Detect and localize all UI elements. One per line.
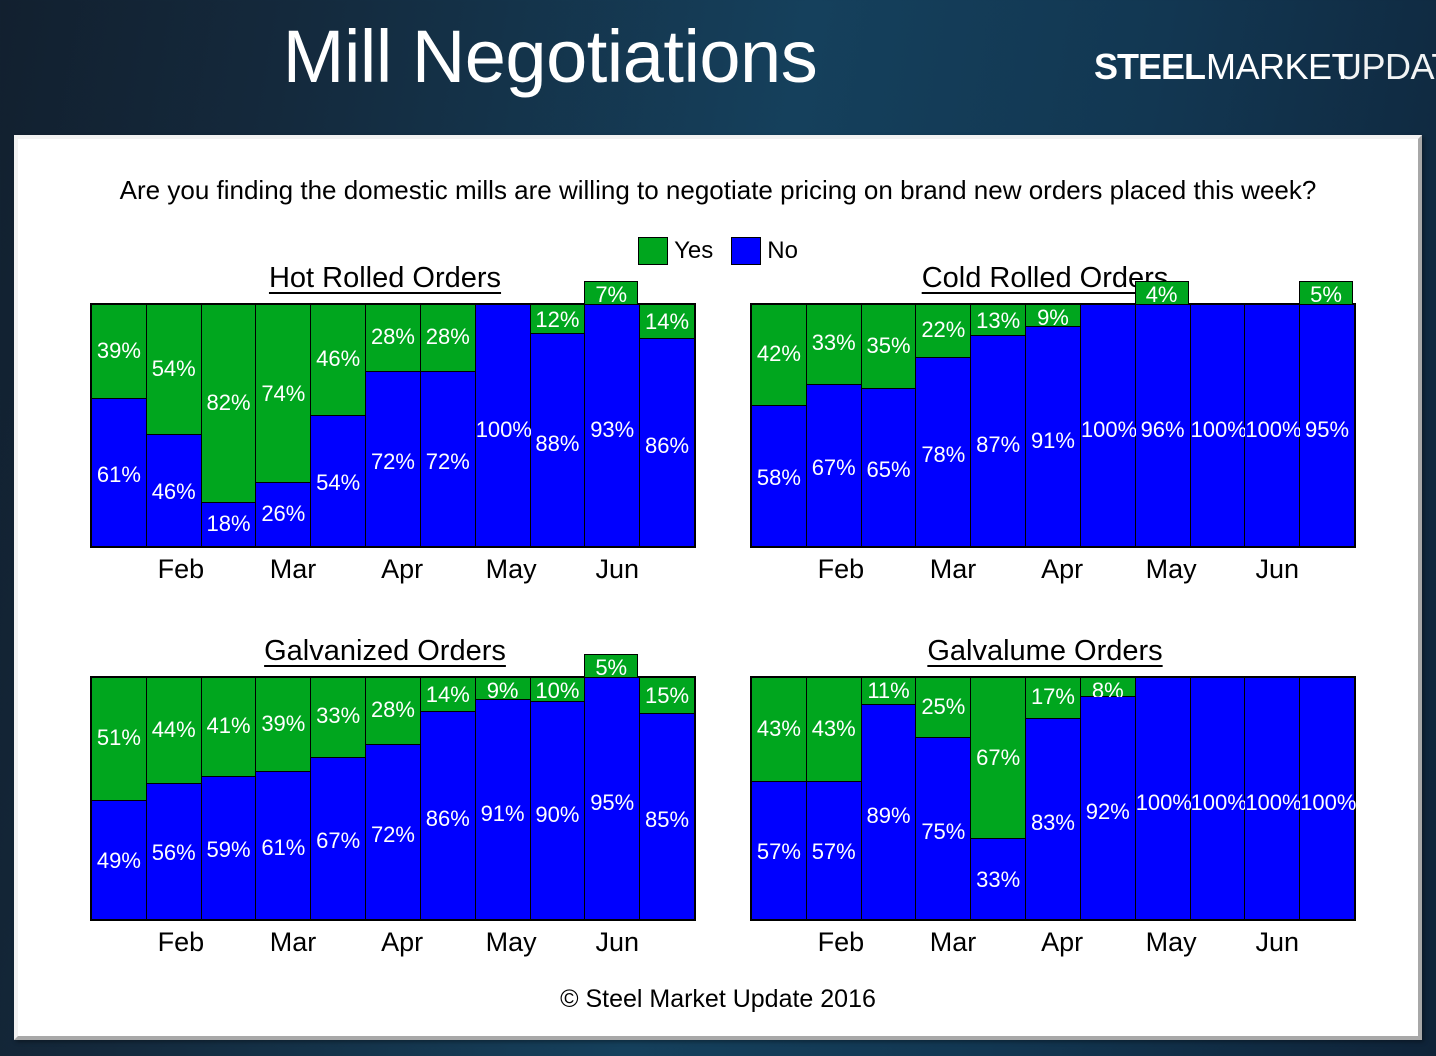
- bar-column: 11%89%: [862, 678, 917, 919]
- bar-segment-no: 93%: [585, 305, 639, 546]
- x-axis-tick-label: Feb: [818, 927, 865, 958]
- x-axis-labels: FebMarAprMayJun: [90, 927, 696, 967]
- bar-column: 28%72%: [366, 678, 421, 919]
- bar-column: 100%: [1300, 678, 1354, 919]
- bar-column: 8%92%: [1081, 678, 1136, 919]
- bar-column: 100%: [1191, 678, 1246, 919]
- bar-value-label-yes: 14%: [421, 682, 475, 708]
- bar-column: 22%78%: [916, 305, 971, 546]
- x-axis-tick-label: Mar: [270, 927, 317, 958]
- x-axis-tick-label: Feb: [158, 927, 205, 958]
- bar-value-label-no: 95%: [1300, 417, 1354, 443]
- bar-value-label-yes: 28%: [366, 697, 420, 723]
- bar-column: 100%: [1136, 678, 1191, 919]
- bar-value-label-no: 88%: [531, 431, 585, 457]
- bar-value-label-yes: 46%: [311, 346, 365, 372]
- bar-value-label-no: 18%: [202, 511, 256, 537]
- x-axis-tick-label: Feb: [158, 554, 205, 585]
- bar-segment-no: 56%: [147, 784, 201, 919]
- bar-value-label-yes: 39%: [256, 711, 310, 737]
- bar-segment-no: 100%: [1081, 305, 1135, 546]
- plot-area: 43%57%43%57%11%89%25%75%67%33%17%83%8%92…: [750, 676, 1356, 921]
- bar-value-label-no: 86%: [640, 433, 694, 459]
- chart-cold-rolled-orders: Cold Rolled Orders 42%58%33%67%35%65%22%…: [734, 262, 1356, 567]
- bar-value-label-no: 100%: [1245, 790, 1299, 816]
- bar-column: 43%57%: [807, 678, 862, 919]
- bar-column: 33%67%: [311, 678, 366, 919]
- bar-column: 51%49%: [92, 678, 147, 919]
- bar-column: 100%: [1191, 305, 1246, 546]
- bar-segment-no: 26%: [256, 483, 310, 546]
- bar-column: 100%: [1245, 305, 1300, 546]
- bar-segment-yes: 14%: [421, 678, 475, 712]
- bar-value-label-yes: 43%: [807, 716, 861, 742]
- bar-segment-no: 67%: [807, 385, 861, 546]
- x-axis-tick-label: Apr: [1041, 554, 1083, 585]
- bar-segment-yes: 22%: [916, 305, 970, 358]
- chart-galvanized-orders: Galvanized Orders 51%49%44%56%41%59%39%6…: [74, 635, 696, 940]
- bar-value-label-no: 65%: [862, 457, 916, 483]
- bar-value-label-yes: 17%: [1026, 684, 1080, 710]
- bar-segment-no: 65%: [862, 389, 916, 546]
- bar-value-label-no: 100%: [1245, 417, 1299, 443]
- bar-value-label-yes: 10%: [531, 678, 585, 704]
- content-panel: Are you finding the domestic mills are w…: [14, 135, 1422, 1040]
- bar-segment-yes: 74%: [256, 305, 310, 483]
- bar-value-label-yes: 14%: [640, 309, 694, 335]
- x-axis-tick-label: May: [486, 927, 537, 958]
- bar-column: 13%87%: [971, 305, 1026, 546]
- bar-value-label-no: 67%: [807, 455, 861, 481]
- bar-segment-no: 61%: [256, 772, 310, 919]
- bar-value-label-no: 57%: [807, 839, 861, 865]
- bar-segment-yes: 17%: [1026, 678, 1080, 719]
- bar-segment-no: 57%: [752, 782, 806, 919]
- chart-hot-rolled-orders: Hot Rolled Orders 39%61%54%46%82%18%74%2…: [74, 262, 696, 567]
- bar-value-label-no: 100%: [476, 417, 530, 443]
- bar-column: 7%93%: [585, 305, 640, 546]
- legend-swatch-yes: [638, 237, 668, 265]
- plot-area: 51%49%44%56%41%59%39%61%33%67%28%72%14%8…: [90, 676, 696, 921]
- bar-segment-no: 100%: [1245, 678, 1299, 919]
- x-axis-labels: FebMarAprMayJun: [750, 554, 1356, 594]
- legend-item-yes: Yes: [638, 237, 713, 265]
- bar-segment-yes: 33%: [807, 305, 861, 385]
- bar-segment-no: 75%: [916, 738, 970, 919]
- bar-segment-yes: 46%: [311, 305, 365, 416]
- bar-value-label-no: 72%: [366, 449, 420, 475]
- bar-segment-no: 18%: [202, 503, 256, 546]
- bar-value-label-yes: 13%: [971, 308, 1025, 334]
- steel-market-update-logo: STEEL MARKET UPDATE: [1088, 12, 1432, 122]
- x-axis-labels: FebMarAprMayJun: [90, 554, 696, 594]
- bar-value-label-no: 58%: [752, 465, 806, 491]
- logo-word-update: UPDATE: [1336, 46, 1436, 88]
- bar-column: 100%: [476, 305, 531, 546]
- bar-value-label-yes: 41%: [202, 713, 256, 739]
- bar-column: 39%61%: [92, 305, 147, 546]
- bar-value-label-yes: 33%: [807, 330, 861, 356]
- bar-segment-no: 96%: [1136, 305, 1190, 546]
- bar-segment-no: 90%: [531, 702, 585, 919]
- bar-value-label-no: 87%: [971, 432, 1025, 458]
- bar-segment-yes: 4%: [1135, 281, 1189, 305]
- bar-column: 9%91%: [1026, 305, 1081, 546]
- x-axis-tick-label: Mar: [270, 554, 317, 585]
- bar-column: 33%67%: [807, 305, 862, 546]
- bar-value-label-no: 83%: [1026, 810, 1080, 836]
- bar-value-label-yes: 33%: [311, 703, 365, 729]
- bar-segment-yes: 42%: [752, 305, 806, 406]
- bar-segment-no: 61%: [92, 399, 146, 546]
- legend-label-yes: Yes: [674, 237, 713, 265]
- bar-value-label-yes: 82%: [202, 390, 256, 416]
- bar-value-label-yes: 22%: [916, 317, 970, 343]
- bar-segment-no: 100%: [1245, 305, 1299, 546]
- bar-segment-yes: 8%: [1081, 678, 1135, 697]
- bar-column: 28%72%: [366, 305, 421, 546]
- plot-area: 42%58%33%67%35%65%22%78%13%87%9%91%100%4…: [750, 303, 1356, 548]
- chart-galvalume-orders: Galvalume Orders 43%57%43%57%11%89%25%75…: [734, 635, 1356, 940]
- legend-label-no: No: [767, 237, 798, 265]
- bar-column: 12%88%: [531, 305, 586, 546]
- bar-value-label-yes: 51%: [92, 725, 146, 751]
- bar-value-label-yes: 54%: [147, 356, 201, 382]
- bar-value-label-yes: 25%: [916, 694, 970, 720]
- bar-value-label-no: 56%: [147, 840, 201, 866]
- bar-segment-no: 49%: [92, 801, 146, 919]
- chart-title: Galvalume Orders: [734, 635, 1356, 668]
- bar-value-label-no: 26%: [256, 501, 310, 527]
- bar-segment-no: 72%: [366, 372, 420, 546]
- bar-segment-no: 67%: [311, 758, 365, 919]
- bar-segment-no: 83%: [1026, 719, 1080, 919]
- chart-title: Cold Rolled Orders: [734, 262, 1356, 295]
- bar-value-label-no: 57%: [752, 839, 806, 865]
- plot-area: 39%61%54%46%82%18%74%26%46%54%28%72%28%7…: [90, 303, 696, 548]
- bar-column: 9%91%: [476, 678, 531, 919]
- bar-value-label-yes: 43%: [752, 716, 806, 742]
- bar-segment-yes: 14%: [640, 305, 694, 339]
- bar-segment-yes: 12%: [531, 305, 585, 334]
- x-axis-labels: FebMarAprMayJun: [750, 927, 1356, 967]
- bar-segment-yes: 28%: [366, 305, 420, 372]
- bar-value-label-yes: 44%: [147, 717, 201, 743]
- bar-segment-yes: 25%: [916, 678, 970, 738]
- x-axis-tick-label: May: [486, 554, 537, 585]
- bar-segment-yes: 51%: [92, 678, 146, 801]
- bar-value-label-yes: 35%: [862, 333, 916, 359]
- x-axis-tick-label: May: [1146, 554, 1197, 585]
- x-axis-tick-label: Apr: [1041, 927, 1083, 958]
- bar-value-label-no: 61%: [92, 462, 146, 488]
- bar-value-label-no: 86%: [421, 806, 475, 832]
- bar-segment-yes: 13%: [971, 305, 1025, 336]
- bar-segment-no: 86%: [640, 339, 694, 546]
- bar-value-label-yes: 67%: [971, 745, 1025, 771]
- bar-value-label-yes: 28%: [366, 324, 420, 350]
- bar-column: 15%85%: [640, 678, 694, 919]
- bar-value-label-no: 100%: [1081, 417, 1135, 443]
- bar-value-label-no: 90%: [531, 802, 585, 828]
- x-axis-tick-label: Feb: [818, 554, 865, 585]
- bar-segment-no: 88%: [531, 334, 585, 546]
- bar-segment-yes: 5%: [1299, 281, 1353, 305]
- bar-value-label-yes: 42%: [752, 341, 806, 367]
- bar-segment-yes: 41%: [202, 678, 256, 777]
- bar-segment-no: 72%: [366, 745, 420, 919]
- bar-column: 100%: [1245, 678, 1300, 919]
- logo-word-market: MARKET: [1206, 46, 1353, 88]
- x-axis-tick-label: Jun: [1255, 554, 1299, 585]
- bar-segment-yes: 15%: [640, 678, 694, 714]
- bar-column: 100%: [1081, 305, 1136, 546]
- bar-column: 82%18%: [202, 305, 257, 546]
- bar-column: 54%46%: [147, 305, 202, 546]
- bar-segment-no: 78%: [916, 358, 970, 546]
- bar-column: 14%86%: [640, 305, 694, 546]
- bar-value-label-no: 49%: [92, 848, 146, 874]
- bar-column: 25%75%: [916, 678, 971, 919]
- bar-value-label-no: 59%: [202, 837, 256, 863]
- bar-column: 67%33%: [971, 678, 1026, 919]
- bar-segment-no: 91%: [1026, 327, 1080, 546]
- bar-segment-no: 100%: [476, 305, 530, 546]
- bar-column: 42%58%: [752, 305, 807, 546]
- bar-segment-yes: 33%: [311, 678, 365, 758]
- bar-segment-yes: 7%: [584, 281, 638, 305]
- bar-value-label-no: 72%: [421, 449, 475, 475]
- bar-segment-no: 59%: [202, 777, 256, 919]
- bar-segment-no: 91%: [476, 700, 530, 919]
- bar-segment-yes: 10%: [531, 678, 585, 702]
- logo-word-steel: STEEL: [1094, 46, 1205, 88]
- x-axis-tick-label: Jun: [595, 554, 639, 585]
- page-title: Mill Negotiations: [0, 14, 1100, 99]
- bar-segment-yes: 39%: [92, 305, 146, 399]
- bar-segment-yes: 43%: [752, 678, 806, 782]
- bar-segment-no: 92%: [1081, 697, 1135, 919]
- copyright-footer: © Steel Market Update 2016: [18, 985, 1418, 1014]
- bar-column: 46%54%: [311, 305, 366, 546]
- bar-segment-yes: 43%: [807, 678, 861, 782]
- bar-segment-yes: 54%: [147, 305, 201, 435]
- survey-question: Are you finding the domestic mills are w…: [18, 175, 1418, 206]
- bar-value-label-no: 91%: [1026, 428, 1080, 454]
- bar-column: 35%65%: [862, 305, 917, 546]
- bar-column: 74%26%: [256, 305, 311, 546]
- bar-column: 43%57%: [752, 678, 807, 919]
- bar-segment-no: 100%: [1300, 678, 1354, 919]
- bar-value-label-no: 89%: [862, 803, 916, 829]
- bar-column: 41%59%: [202, 678, 257, 919]
- bar-value-label-no: 100%: [1191, 790, 1245, 816]
- bar-value-label-yes: 15%: [640, 683, 694, 709]
- bar-segment-no: 54%: [311, 416, 365, 546]
- bar-value-label-no: 75%: [916, 819, 970, 845]
- x-axis-tick-label: Mar: [930, 554, 977, 585]
- bar-column: 4%96%: [1136, 305, 1191, 546]
- bar-value-label-no: 54%: [311, 470, 365, 496]
- slide-header: Mill Negotiations STEEL MARKET UPDATE: [0, 0, 1436, 135]
- bar-column: 14%86%: [421, 678, 476, 919]
- bar-value-label-no: 100%: [1300, 790, 1354, 816]
- legend-swatch-no: [731, 237, 761, 265]
- bar-value-label-no: 67%: [311, 828, 365, 854]
- bar-value-label-yes: 74%: [256, 381, 310, 407]
- bar-segment-no: 58%: [752, 406, 806, 546]
- x-axis-tick-label: May: [1146, 927, 1197, 958]
- bar-value-label-no: 85%: [640, 807, 694, 833]
- bar-segment-yes: 44%: [147, 678, 201, 784]
- bar-segment-no: 86%: [421, 712, 475, 919]
- bar-segment-no: 95%: [1300, 305, 1354, 546]
- bar-value-label-no: 91%: [476, 801, 530, 827]
- bar-column: 44%56%: [147, 678, 202, 919]
- bar-value-label-no: 33%: [971, 867, 1025, 893]
- bar-value-label-no: 61%: [256, 835, 310, 861]
- x-axis-tick-label: Apr: [381, 927, 423, 958]
- bar-value-label-no: 72%: [366, 822, 420, 848]
- x-axis-tick-label: Apr: [381, 554, 423, 585]
- bar-segment-no: 33%: [971, 839, 1025, 919]
- bar-value-label-yes: 39%: [92, 338, 146, 364]
- chart-legend: Yes No: [18, 237, 1418, 265]
- bar-segment-no: 95%: [585, 678, 639, 919]
- bar-segment-yes: 9%: [476, 678, 530, 700]
- bar-value-label-no: 100%: [1136, 790, 1190, 816]
- bar-segment-no: 100%: [1191, 305, 1245, 546]
- x-axis-tick-label: Jun: [1255, 927, 1299, 958]
- bar-segment-no: 87%: [971, 336, 1025, 546]
- bar-segment-yes: 35%: [862, 305, 916, 389]
- bar-segment-yes: 82%: [202, 305, 256, 503]
- bar-segment-yes: 67%: [971, 678, 1025, 839]
- bar-segment-yes: 28%: [366, 678, 420, 745]
- bar-segment-no: 85%: [640, 714, 694, 919]
- x-axis-tick-label: Mar: [930, 927, 977, 958]
- bar-value-label-no: 92%: [1081, 799, 1135, 825]
- bar-segment-no: 72%: [421, 372, 475, 546]
- bar-value-label-no: 100%: [1191, 417, 1245, 443]
- bar-column: 17%83%: [1026, 678, 1081, 919]
- bar-column: 10%90%: [531, 678, 586, 919]
- bar-value-label-no: 95%: [585, 790, 639, 816]
- bar-value-label-yes: 12%: [531, 307, 585, 333]
- bar-value-label-no: 46%: [147, 479, 201, 505]
- bar-value-label-yes: 11%: [862, 678, 916, 704]
- bar-segment-no: 100%: [1191, 678, 1245, 919]
- bar-segment-yes: 39%: [256, 678, 310, 772]
- bar-column: 28%72%: [421, 305, 476, 546]
- bar-segment-yes: 11%: [862, 678, 916, 705]
- bar-segment-yes: 9%: [1026, 305, 1080, 327]
- bar-segment-no: 89%: [862, 705, 916, 919]
- bar-segment-yes: 28%: [421, 305, 475, 372]
- bar-column: 39%61%: [256, 678, 311, 919]
- bar-value-label-no: 78%: [916, 442, 970, 468]
- bar-value-label-no: 93%: [585, 417, 639, 443]
- x-axis-tick-label: Jun: [595, 927, 639, 958]
- bar-value-label-yes: 28%: [421, 324, 475, 350]
- bar-column: 5%95%: [585, 678, 640, 919]
- bar-segment-no: 100%: [1136, 678, 1190, 919]
- legend-item-no: No: [731, 237, 798, 265]
- bar-segment-no: 57%: [807, 782, 861, 919]
- bar-column: 5%95%: [1300, 305, 1354, 546]
- bar-segment-no: 46%: [147, 435, 201, 546]
- bar-segment-yes: 5%: [584, 654, 638, 678]
- bar-value-label-no: 96%: [1136, 417, 1190, 443]
